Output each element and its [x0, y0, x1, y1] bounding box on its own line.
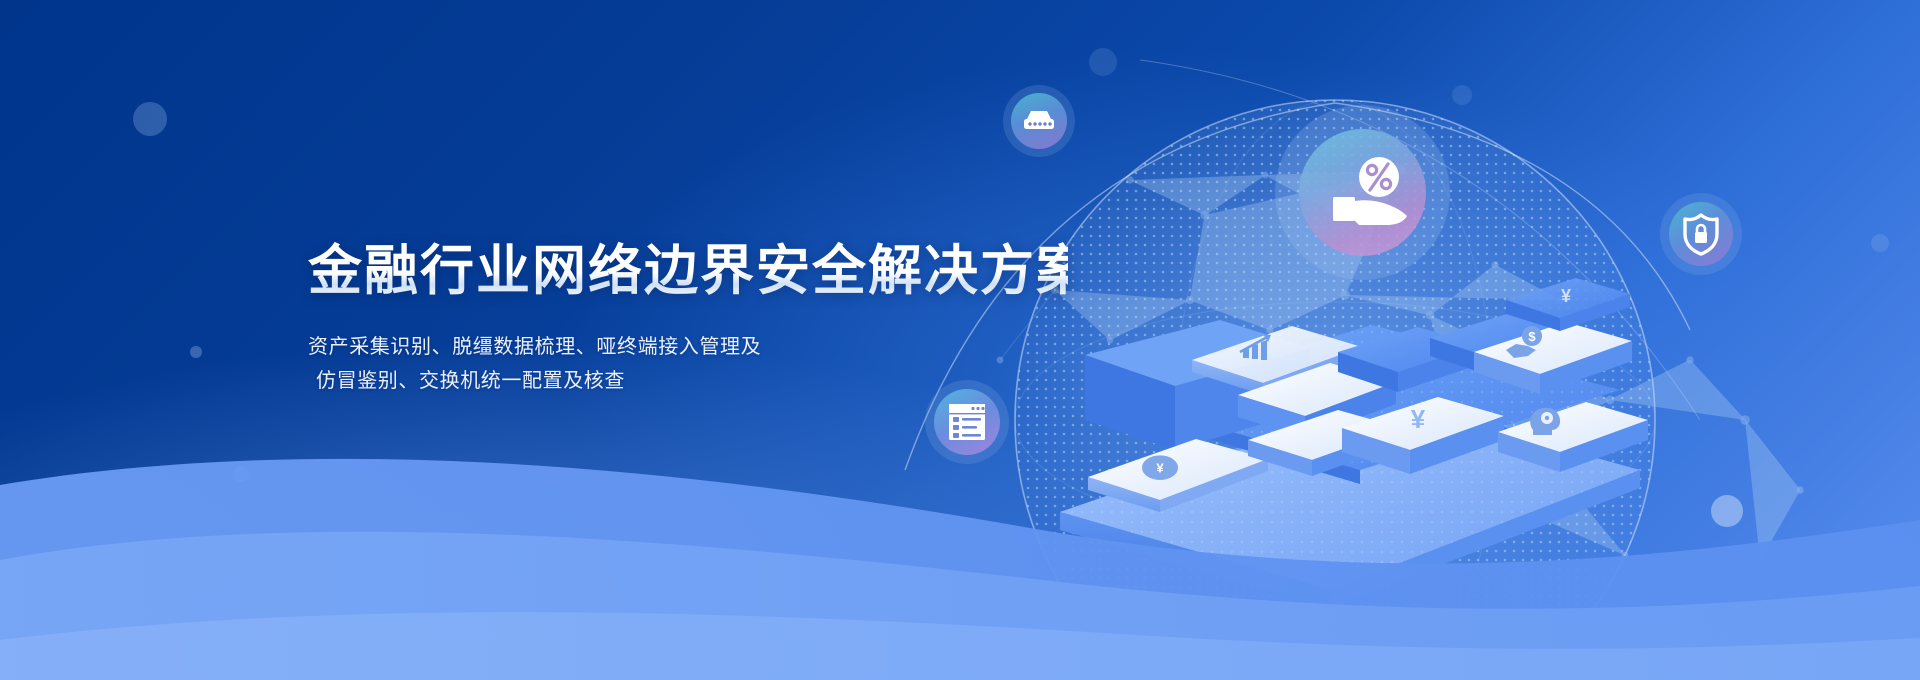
subtitle-line-1: 资产采集识别、脱缰数据梳理、哑终端接入管理及: [308, 330, 1068, 364]
percent-hand-icon: [1325, 155, 1413, 237]
shield-lock-bubble[interactable]: [1660, 193, 1742, 275]
finance-security-banner: ¥: [0, 0, 1920, 680]
page-title: 金融行业网络边界安全解决方案: [308, 240, 1068, 302]
percent-hand-bubble[interactable]: [1275, 105, 1450, 280]
subtitle-line-2: 仿冒鉴别、交换机统一配置及核查: [308, 364, 1068, 398]
document-list-icon: [946, 402, 988, 442]
network-switch-icon: [1019, 108, 1059, 134]
banner-copy: 金融行业网络边界安全解决方案 资产采集识别、脱缰数据梳理、哑终端接入管理及 仿冒…: [308, 240, 1068, 398]
network-switch-bubble[interactable]: [1003, 85, 1075, 157]
shield-lock-icon: [1681, 212, 1721, 256]
page-subtitle: 资产采集识别、脱缰数据梳理、哑终端接入管理及 仿冒鉴别、交换机统一配置及核查: [308, 330, 1068, 398]
